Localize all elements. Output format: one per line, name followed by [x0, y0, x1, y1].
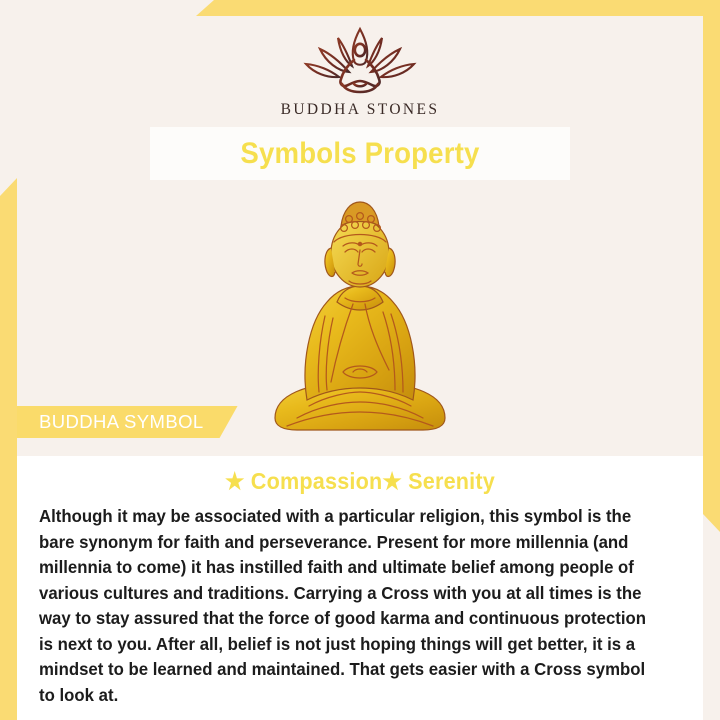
ribbon-label: BUDDHA SYMBOL	[39, 411, 204, 433]
content-panel: ★ Compassion★ Serenity Although it may b…	[17, 456, 703, 720]
content-paragraph: Although it may be associated with a par…	[39, 504, 659, 708]
poster-canvas: BUDDHA STONES Symbols Property	[0, 0, 720, 720]
content-subheading: ★ Compassion★ Serenity	[38, 468, 683, 495]
golden-seated-buddha-statue	[257, 186, 463, 432]
decor-band-left	[0, 178, 17, 720]
page-title: Symbols Property	[240, 137, 479, 171]
title-banner: Symbols Property	[150, 127, 570, 180]
decor-band-top	[196, 0, 720, 16]
buddha-symbol-ribbon: BUDDHA SYMBOL	[17, 406, 238, 438]
brand-logo: BUDDHA STONES	[0, 22, 720, 119]
brand-name: BUDDHA STONES	[281, 101, 440, 119]
lotus-meditation-icon	[294, 22, 426, 94]
hero-image	[0, 182, 720, 432]
